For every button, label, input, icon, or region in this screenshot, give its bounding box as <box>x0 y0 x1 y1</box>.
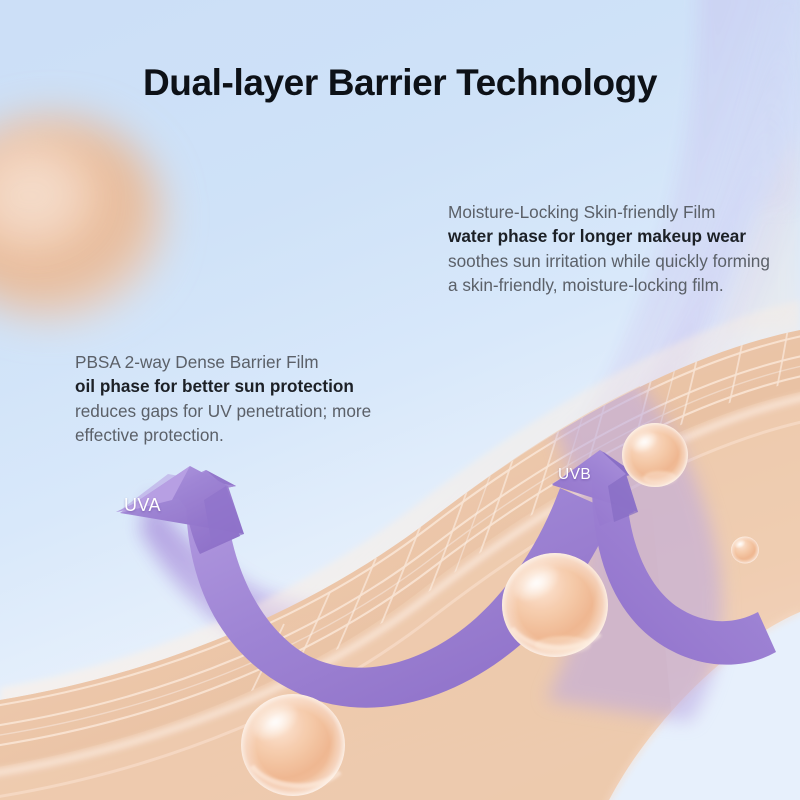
callout-emphasis: water phase for longer makeup wear <box>448 224 784 248</box>
callout-body: reduces gaps for UV penetration; more ef… <box>75 401 371 445</box>
callout-pbsa-barrier: PBSA 2-way Dense Barrier Film oil phase … <box>75 350 405 448</box>
sunscreen-technology-poster: Dual-layer Barrier Technology Moisture-L… <box>0 0 800 800</box>
page-title: Dual-layer Barrier Technology <box>0 62 800 104</box>
callout-body: soothes sun irritation while quickly for… <box>448 251 770 295</box>
callout-emphasis: oil phase for better sun protection <box>75 374 405 398</box>
callout-heading: Moisture-Locking Skin-friendly Film <box>448 202 715 222</box>
callout-moisture-locking: Moisture-Locking Skin-friendly Film wate… <box>448 200 784 298</box>
callout-heading: PBSA 2-way Dense Barrier Film <box>75 352 319 372</box>
